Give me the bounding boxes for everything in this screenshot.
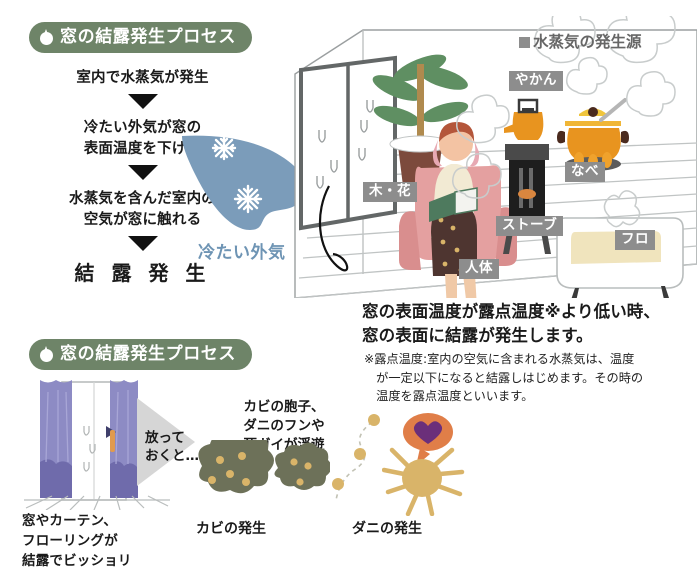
- section-title-second-label: 窓の結露発生プロセス: [60, 346, 236, 363]
- snowflake-icon: [235, 186, 261, 212]
- section-title-label: 窓の結露発生プロセス: [60, 29, 236, 46]
- window-wet-caption: 窓やカーテン、 フローリングが 結露でビッショリ: [22, 512, 132, 572]
- section-title-second: 窓の結露発生プロセス: [29, 339, 252, 370]
- room-svg: [293, 16, 697, 298]
- mite-caption: ダニの発生: [352, 518, 422, 538]
- flow-step-1: 室内で水蒸気が発生: [0, 68, 285, 89]
- label-stove: ストーブ: [496, 216, 563, 236]
- flow-arrow-1: [128, 94, 158, 109]
- mite-illustration: [382, 412, 502, 516]
- snowflake-icon: [213, 137, 235, 159]
- water-drop-icon: [40, 29, 53, 47]
- label-pot: なべ: [565, 162, 605, 182]
- label-kettle: やかん: [509, 71, 563, 91]
- label-plant: 木・花: [363, 182, 417, 202]
- flow-arrow-2: [128, 165, 158, 180]
- mold-caption: カビの発生: [196, 518, 266, 538]
- vapor-sources-header: 水蒸気の発生源: [519, 30, 642, 52]
- room-illustration: 水蒸気の発生源 やかん なべ ストーブ フロ 木・花 人体: [293, 16, 697, 298]
- cold-air-label: 冷たい外気: [198, 238, 286, 263]
- section-title-process: 窓の結露発生プロセス: [29, 22, 252, 53]
- dew-point-statement: 窓の表面温度が露点温度※より低い時、 窓の表面に結露が発生します。: [362, 300, 697, 348]
- water-drop-icon: [40, 346, 53, 364]
- mold-illustration: [190, 440, 330, 510]
- label-human: 人体: [459, 259, 499, 279]
- flow-arrow-3: [128, 236, 158, 251]
- square-bullet-icon: [519, 37, 530, 48]
- dew-point-note: ※露点温度:室内の空気に含まれる水蒸気は、温度 が一定以下になると結露しはじめま…: [364, 350, 694, 406]
- label-bath: フロ: [615, 230, 655, 250]
